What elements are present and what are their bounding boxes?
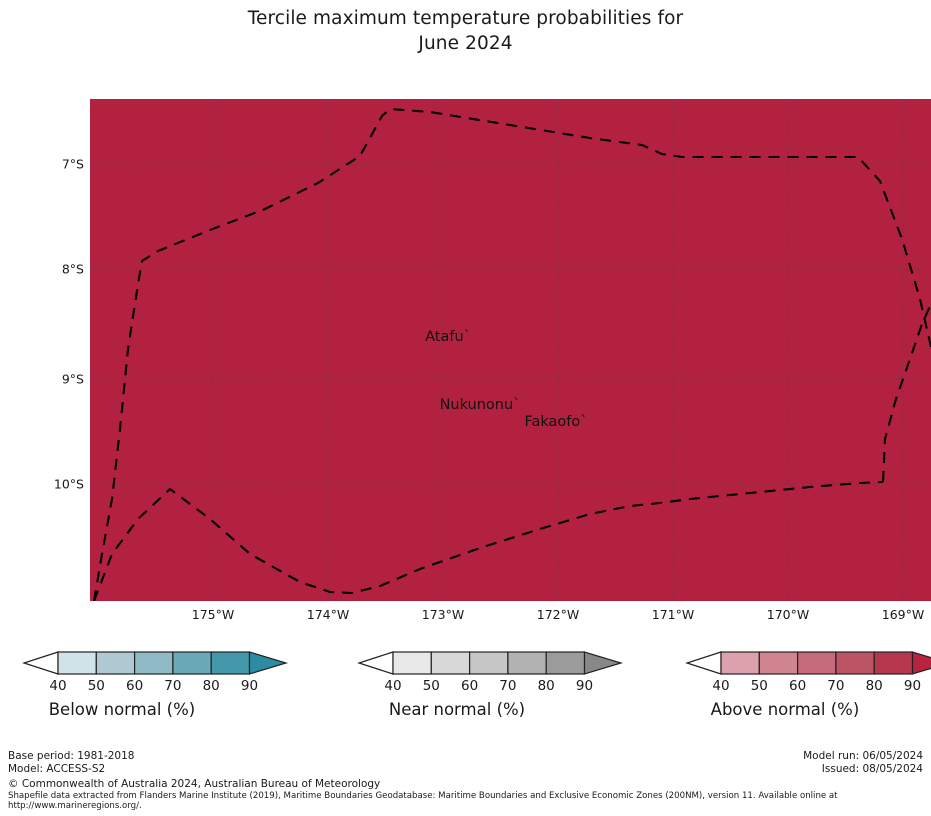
eez-boundary-line-east [883, 304, 931, 482]
y-axis-tick-7s: 7°S [0, 157, 84, 172]
cbar2-tick-70: 70 [499, 678, 516, 694]
footer-model-run: Model run: 06/05/2024 [803, 750, 923, 763]
eez-boundary-line-south [94, 482, 883, 601]
colorbar-below-normal[interactable]: 40 50 60 70 80 90 Below normal (%) [10, 649, 300, 719]
colorbar-near-normal-swatches [345, 649, 635, 677]
footer-issued: Issued: 08/05/2024 [822, 763, 923, 776]
colorbar-below-normal-ticks: 40 50 60 70 80 90 [10, 678, 300, 696]
colorbar-near-normal-caption: Near normal (%) [337, 700, 577, 719]
cbar3-tick-80: 80 [866, 678, 883, 694]
map-plot-area[interactable]: Atafu` Nukunonu` Fakaofo` [90, 99, 931, 601]
cbar3-tick-60: 60 [789, 678, 806, 694]
x-axis-tick-175w: 175°W [192, 607, 234, 622]
map-label-atafu: Atafu` [425, 329, 471, 345]
colorbar-above-normal-ticks: 40 50 60 70 80 90 [673, 678, 931, 696]
x-axis-tick-173w: 173°W [422, 607, 464, 622]
footer-shapefile-line-2: http://www.marineregions.org/. [8, 801, 142, 812]
colorbar-near-normal-ticks: 40 50 60 70 80 90 [345, 678, 635, 696]
cbar3-tick-40: 40 [712, 678, 729, 694]
x-axis-tick-169w: 169°W [882, 607, 924, 622]
colorbar-below-normal-caption: Below normal (%) [2, 700, 242, 719]
colorbar-above-normal-swatches [673, 649, 931, 677]
page-title: Tercile maximum temperature probabilitie… [0, 6, 931, 56]
colorbar-above-normal[interactable]: 40 50 60 70 80 90 Above normal (%) [673, 649, 931, 719]
grid-vertical [213, 99, 903, 601]
x-axis-tick-170w: 170°W [767, 607, 809, 622]
footer-shapefile-line-1: Shapefile data extracted from Flanders M… [8, 791, 838, 802]
cbar1-tick-40: 40 [49, 678, 66, 694]
cbar1-tick-70: 70 [164, 678, 181, 694]
title-line-1: Tercile maximum temperature probabilitie… [0, 6, 931, 31]
cbar2-tick-50: 50 [423, 678, 440, 694]
grid-horizontal [90, 164, 931, 484]
colorbar-near-normal[interactable]: 40 50 60 70 80 90 Near normal (%) [345, 649, 635, 719]
cbar2-tick-40: 40 [384, 678, 401, 694]
cbar3-tick-90: 90 [904, 678, 921, 694]
y-axis-tick-10s: 10°S [0, 477, 84, 492]
x-axis-tick-172w: 172°W [537, 607, 579, 622]
colorbar-below-normal-swatches [10, 649, 300, 677]
cbar1-tick-90: 90 [241, 678, 258, 694]
cbar2-tick-60: 60 [461, 678, 478, 694]
cbar1-tick-50: 50 [88, 678, 105, 694]
map-overlay-svg [90, 99, 931, 601]
x-axis-tick-171w: 171°W [652, 607, 694, 622]
cbar1-tick-80: 80 [203, 678, 220, 694]
cbar2-tick-90: 90 [576, 678, 593, 694]
title-line-2: June 2024 [0, 31, 931, 56]
cbar3-tick-50: 50 [751, 678, 768, 694]
cbar1-tick-60: 60 [126, 678, 143, 694]
x-axis-tick-174w: 174°W [307, 607, 349, 622]
footer-copyright: © Commonwealth of Australia 2024, Austra… [8, 778, 380, 791]
y-axis-tick-8s: 8°S [0, 262, 84, 277]
cbar3-tick-70: 70 [827, 678, 844, 694]
y-axis-tick-9s: 9°S [0, 372, 84, 387]
map-label-nukunonu: Nukunonu` [440, 397, 521, 413]
footer-base-period: Base period: 1981-2018 [8, 750, 134, 763]
map-label-fakaofo: Fakaofo` [524, 414, 587, 430]
footer-model: Model: ACCESS-S2 [8, 763, 105, 776]
cbar2-tick-80: 80 [538, 678, 555, 694]
colorbar-above-normal-caption: Above normal (%) [665, 700, 905, 719]
